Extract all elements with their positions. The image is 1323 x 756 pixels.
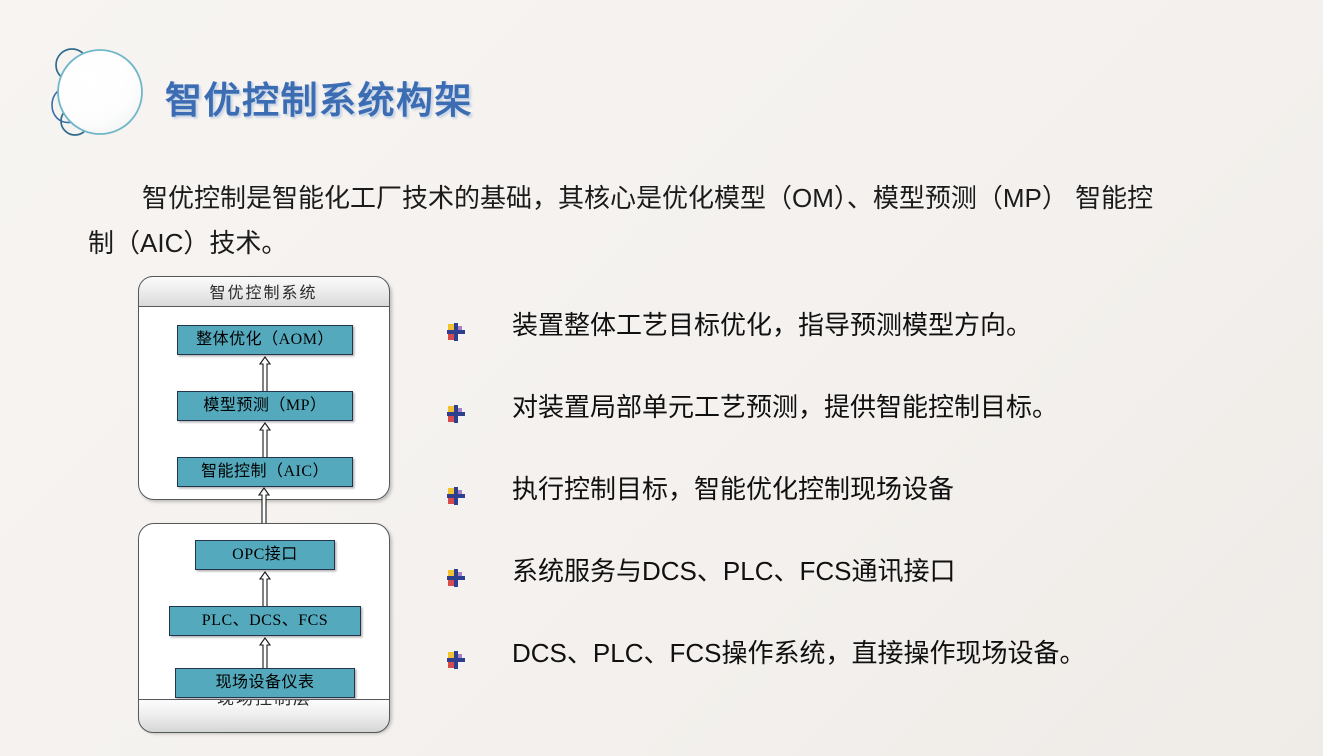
bullet-list: 装置整体工艺目标优化，指导预测模型方向。 对装置局部单元工艺预测，提供智能控制目…: [447, 312, 1287, 722]
diamond-cross-bullet-icon: [447, 405, 465, 423]
intro-paragraph: 智优控制是智能化工厂技术的基础，其核心是优化模型（OM）、模型预测（MP） 智能…: [88, 176, 1253, 265]
list-item: 执行控制目标，智能优化控制现场设备: [447, 476, 1287, 558]
list-item: 装置整体工艺目标优化，指导预测模型方向。: [447, 312, 1287, 394]
list-item-label: 执行控制目标，智能优化控制现场设备: [512, 476, 954, 502]
paragraph-line-1: 智优控制是智能化工厂技术的基础，其核心是优化模型（OM）、模型预测（MP） 智能…: [142, 183, 1153, 213]
diamond-cross-bullet-icon: [447, 651, 465, 669]
page-title: 智优控制系统构架: [165, 70, 473, 124]
lower-panel: OPC接口 PLC、DCS、FCS 现场设备仪表 现场控制层: [138, 523, 390, 732]
control-system-diagram: 智优控制系统 整体优化（AOM） 模型预测（MP） 智能控制（AIC） OPC接…: [138, 276, 390, 732]
paragraph-line-2: 制（AIC）技术。: [88, 228, 287, 258]
list-item-label: 系统服务与DCS、PLC、FCS通讯接口: [512, 558, 955, 584]
node-opc[interactable]: OPC接口: [195, 540, 335, 570]
node-field-devices[interactable]: 现场设备仪表: [175, 668, 355, 698]
lower-panel-footer: 现场控制层: [138, 699, 390, 733]
decorative-circles: [42, 22, 182, 142]
list-item: 对装置局部单元工艺预测，提供智能控制目标。: [447, 394, 1287, 476]
lower-panel-footer-label: 现场控制层: [139, 699, 390, 709]
node-plc-dcs-fcs[interactable]: PLC、DCS、FCS: [169, 606, 361, 636]
upper-panel: 智优控制系统 整体优化（AOM） 模型预测（MP） 智能控制（AIC）: [138, 276, 390, 500]
node-aic[interactable]: 智能控制（AIC）: [177, 457, 353, 487]
upper-panel-header: 智优控制系统: [138, 276, 390, 307]
diamond-cross-bullet-icon: [447, 323, 465, 341]
slide-canvas: 智优控制系统构架 智优控制是智能化工厂技术的基础，其核心是优化模型（OM）、模型…: [0, 0, 1323, 756]
list-item: 系统服务与DCS、PLC、FCS通讯接口: [447, 558, 1287, 640]
list-item-label: 对装置局部单元工艺预测，提供智能控制目标。: [512, 394, 1058, 420]
diamond-cross-bullet-icon: [447, 487, 465, 505]
list-item: DCS、PLC、FCS操作系统，直接操作现场设备。: [447, 640, 1287, 722]
diamond-cross-bullet-icon: [447, 569, 465, 587]
node-mp[interactable]: 模型预测（MP）: [177, 391, 353, 421]
node-aom[interactable]: 整体优化（AOM）: [177, 325, 353, 355]
list-item-label: DCS、PLC、FCS操作系统，直接操作现场设备。: [512, 640, 1085, 666]
list-item-label: 装置整体工艺目标优化，指导预测模型方向。: [512, 312, 1032, 338]
